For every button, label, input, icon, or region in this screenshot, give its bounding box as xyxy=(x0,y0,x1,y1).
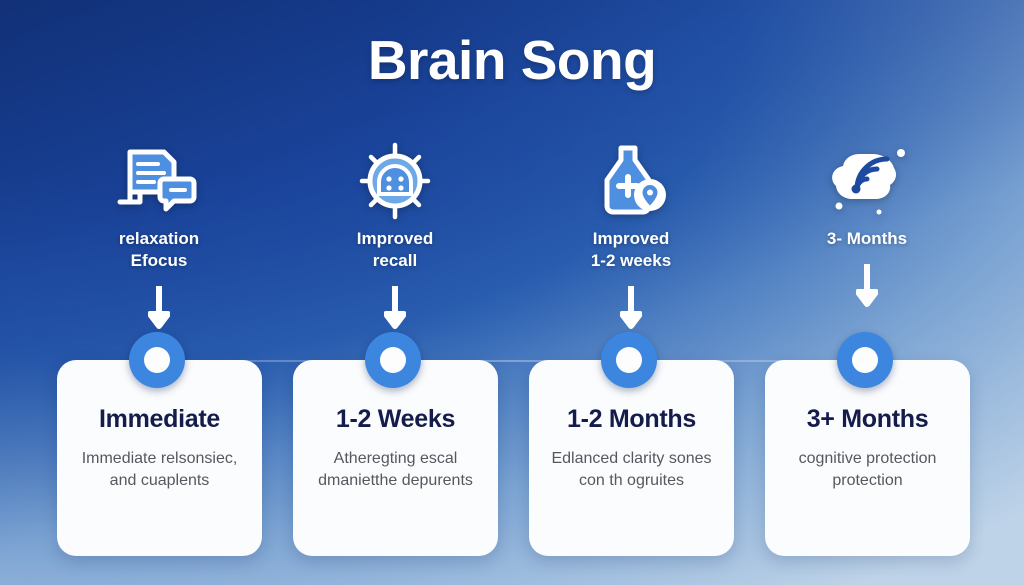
brain-signal-icon xyxy=(749,140,985,222)
timeline-card-immediate[interactable]: Immediate Immediate relsonsiec, and cuap… xyxy=(57,360,262,556)
benefit-column-2: Improved recall xyxy=(277,140,513,332)
document-chat-icon xyxy=(41,140,277,222)
arrow-down-icon xyxy=(856,264,878,310)
timeline-connector-line xyxy=(157,360,869,362)
benefit-label-1: relaxation Efocus xyxy=(41,228,277,272)
arrow-down-icon xyxy=(384,286,406,332)
timeline-node-1-2-months[interactable] xyxy=(601,332,657,388)
arrow-down-icon xyxy=(148,286,170,332)
benefit-column-3: Improved 1-2 weeks xyxy=(513,140,749,332)
benefit-label-2: Improved recall xyxy=(277,228,513,272)
card-body: Immediate relsonsiec, and cuaplents xyxy=(71,448,248,493)
benefit-label-3: Improved 1-2 weeks xyxy=(513,228,749,272)
timeline-node-3-plus-months[interactable] xyxy=(837,332,893,388)
benefit-column-4: 3- Months xyxy=(749,140,985,310)
timeline-node-immediate[interactable] xyxy=(129,332,185,388)
card-body: Edlanced clarity sones con th ogruites xyxy=(543,448,720,493)
sun-rays-icon xyxy=(277,140,513,222)
benefit-label-4: 3- Months xyxy=(749,228,985,250)
timeline-card-3-plus-months[interactable]: 3+ Months cognitive protection protectio… xyxy=(765,360,970,556)
arrow-down-icon xyxy=(620,286,642,332)
card-title: 1-2 Weeks xyxy=(307,406,484,434)
card-body: cognitive protection protection xyxy=(779,448,956,493)
timeline-card-1-2-months[interactable]: 1-2 Months Edlanced clarity sones con th… xyxy=(529,360,734,556)
flask-plus-pin-icon xyxy=(513,140,749,222)
card-title: 1-2 Months xyxy=(543,406,720,434)
card-title: 3+ Months xyxy=(779,406,956,434)
benefit-column-1: relaxation Efocus xyxy=(41,140,277,332)
card-body: Atheregting escal dmanietthe depurents xyxy=(307,448,484,493)
timeline-card-1-2-weeks[interactable]: 1-2 Weeks Atheregting escal dmanietthe d… xyxy=(293,360,498,556)
card-title: Immediate xyxy=(71,406,248,434)
page-title: Brain Song xyxy=(0,28,1024,92)
infographic-stage: Brain Song relaxation Efocus xyxy=(0,0,1024,585)
timeline-node-1-2-weeks[interactable] xyxy=(365,332,421,388)
